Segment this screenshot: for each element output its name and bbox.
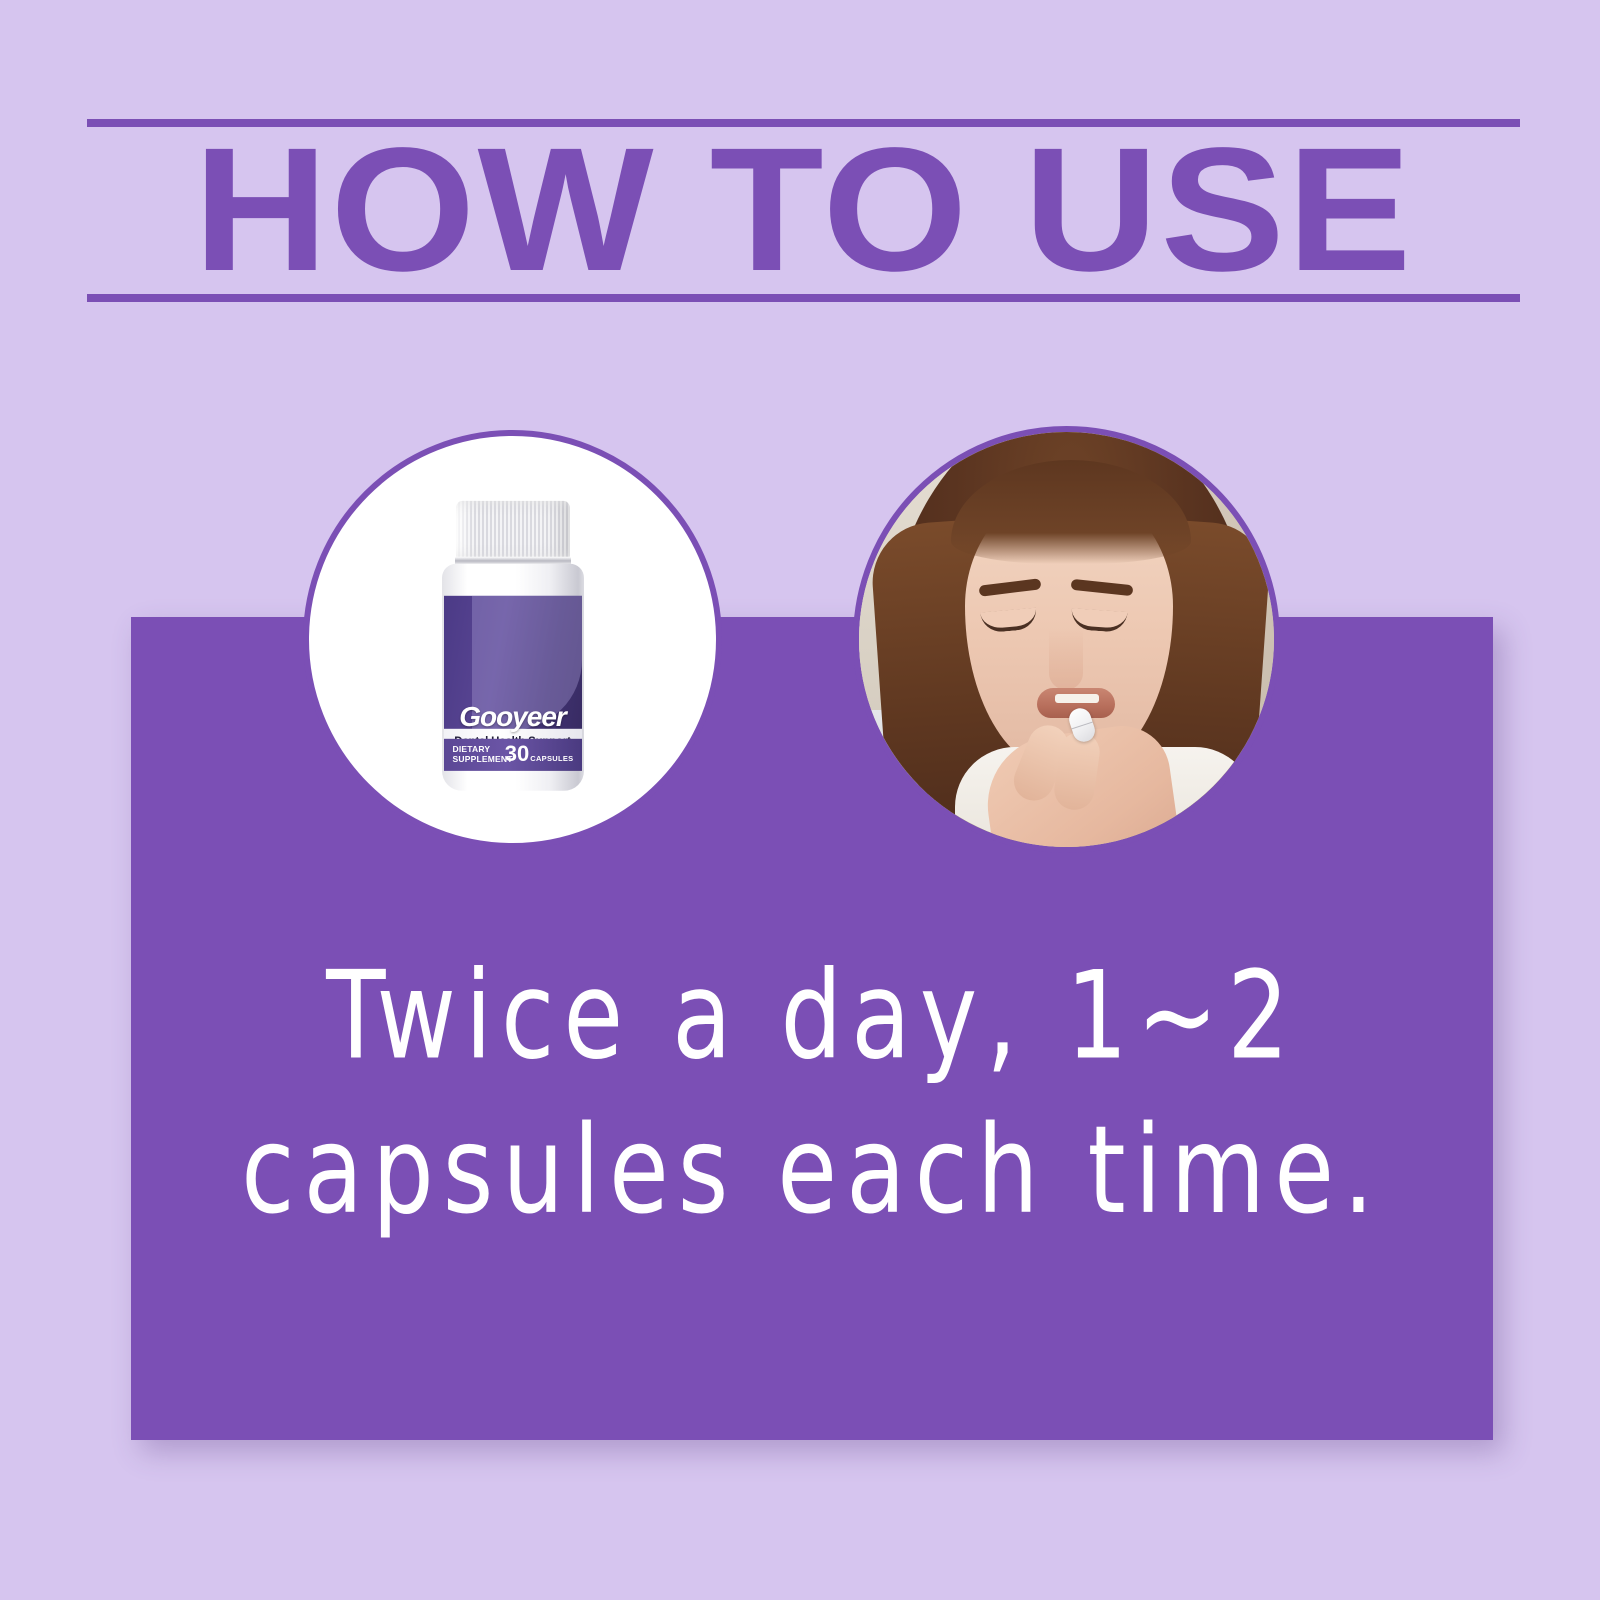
teeth bbox=[1055, 694, 1099, 703]
nose bbox=[1049, 628, 1083, 690]
bottle-category-line-1: DIETARY bbox=[453, 743, 513, 754]
woman-taking-capsule-illustration bbox=[859, 432, 1274, 847]
bottle-cap bbox=[456, 500, 570, 558]
bottle-capsule-count: 30 bbox=[505, 742, 529, 764]
product-image-circle: Gooyeer Dental Health Support Proprietar… bbox=[303, 430, 722, 849]
bottle-category-line-2: SUPPLEMENT bbox=[453, 754, 513, 765]
bottle-category: DIETARY SUPPLEMENT bbox=[453, 743, 513, 764]
title-rule-bottom bbox=[87, 294, 1520, 302]
bottle-label: Gooyeer Dental Health Support Proprietar… bbox=[444, 595, 582, 770]
how-to-use-infographic: HOW TO USE Twice a day, 1~2 capsules eac… bbox=[0, 0, 1600, 1600]
bottle-bottom-band: DIETARY SUPPLEMENT 30 CAPSULES bbox=[444, 738, 582, 770]
person-image-circle bbox=[853, 426, 1280, 853]
bottle-count-group: 30 CAPSULES bbox=[505, 742, 574, 764]
supplement-bottle-illustration: Gooyeer Dental Health Support Proprietar… bbox=[434, 500, 592, 790]
bottle-brand-name: Gooyeer bbox=[444, 700, 582, 732]
instruction-line-1: Twice a day, 1~2 bbox=[181, 940, 1443, 1095]
instruction-line-2: capsules each time. bbox=[181, 1095, 1443, 1250]
page-title: HOW TO USE bbox=[44, 124, 1563, 296]
instruction-text-block: Twice a day, 1~2 capsules each time. bbox=[181, 940, 1443, 1250]
bottle-capsule-unit: CAPSULES bbox=[530, 753, 573, 762]
